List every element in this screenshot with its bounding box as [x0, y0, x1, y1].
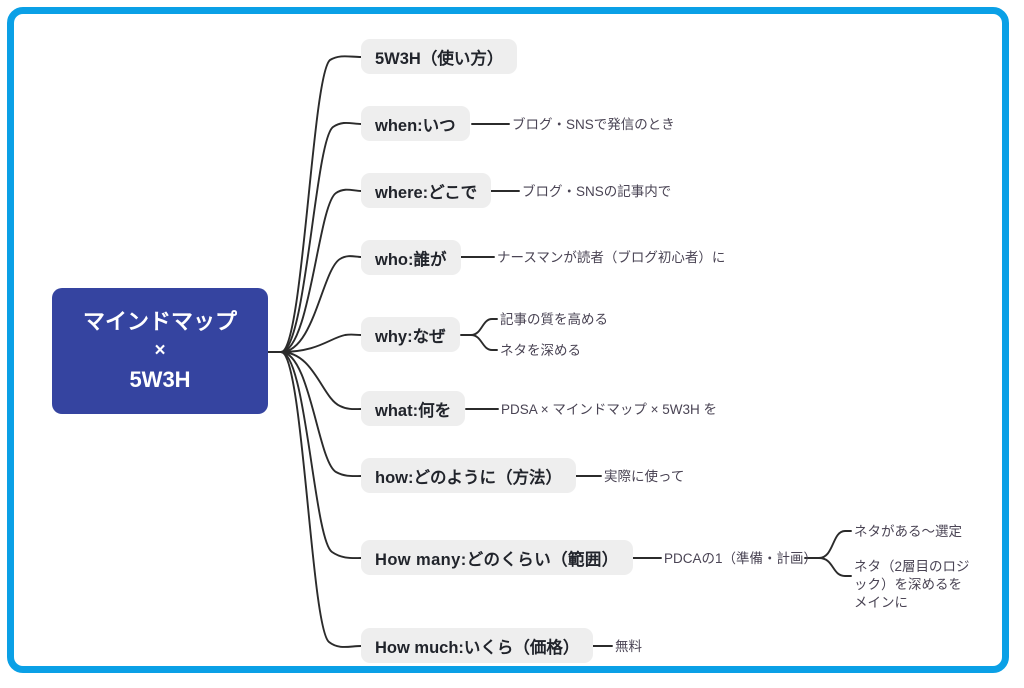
leaf-why-quality: 記事の質を高める — [500, 311, 608, 329]
leaf-how: 実際に使って — [604, 468, 684, 486]
branch-node-what[interactable]: what:何を — [361, 391, 465, 426]
leaf-pdca-deepen-logic: ネタ（2層目のロジック）を深めるをメインに — [854, 558, 972, 611]
branch-node-who[interactable]: who:誰が — [361, 240, 461, 275]
root-node[interactable]: マインドマップ × 5W3H — [52, 288, 268, 414]
branch-node-how-to-use[interactable]: 5W3H（使い方） — [361, 39, 517, 74]
leaf-what: PDSA × マインドマップ × 5W3H を — [501, 401, 717, 419]
leaf-how-many-pdca: PDCAの1（準備・計画） — [664, 550, 817, 568]
branch-node-how-much[interactable]: How much:いくら（価格） — [361, 628, 593, 663]
branch-node-when[interactable]: when:いつ — [361, 106, 470, 141]
branch-node-where[interactable]: where:どこで — [361, 173, 491, 208]
leaf-why-deepen: ネタを深める — [500, 342, 581, 360]
leaf-where: ブログ・SNSの記事内で — [522, 183, 671, 201]
branch-node-how-many[interactable]: How many:どのくらい（範囲） — [361, 540, 633, 575]
leaf-who: ナースマンが読者（ブログ初心者）に — [497, 249, 725, 267]
root-line-1: マインドマップ — [83, 306, 237, 337]
branch-node-how[interactable]: how:どのように（方法） — [361, 458, 576, 493]
leaf-pdca-topic-select: ネタがある～選定 — [854, 523, 962, 541]
leaf-when: ブログ・SNSで発信のとき — [512, 116, 675, 134]
root-line-2: × — [154, 338, 165, 365]
mindmap-canvas: マインドマップ × 5W3H 5W3H（使い方） when:いつ where:ど… — [0, 0, 1024, 688]
branch-node-why[interactable]: why:なぜ — [361, 317, 460, 352]
leaf-how-much: 無料 — [615, 638, 642, 656]
root-line-3: 5W3H — [129, 364, 190, 395]
